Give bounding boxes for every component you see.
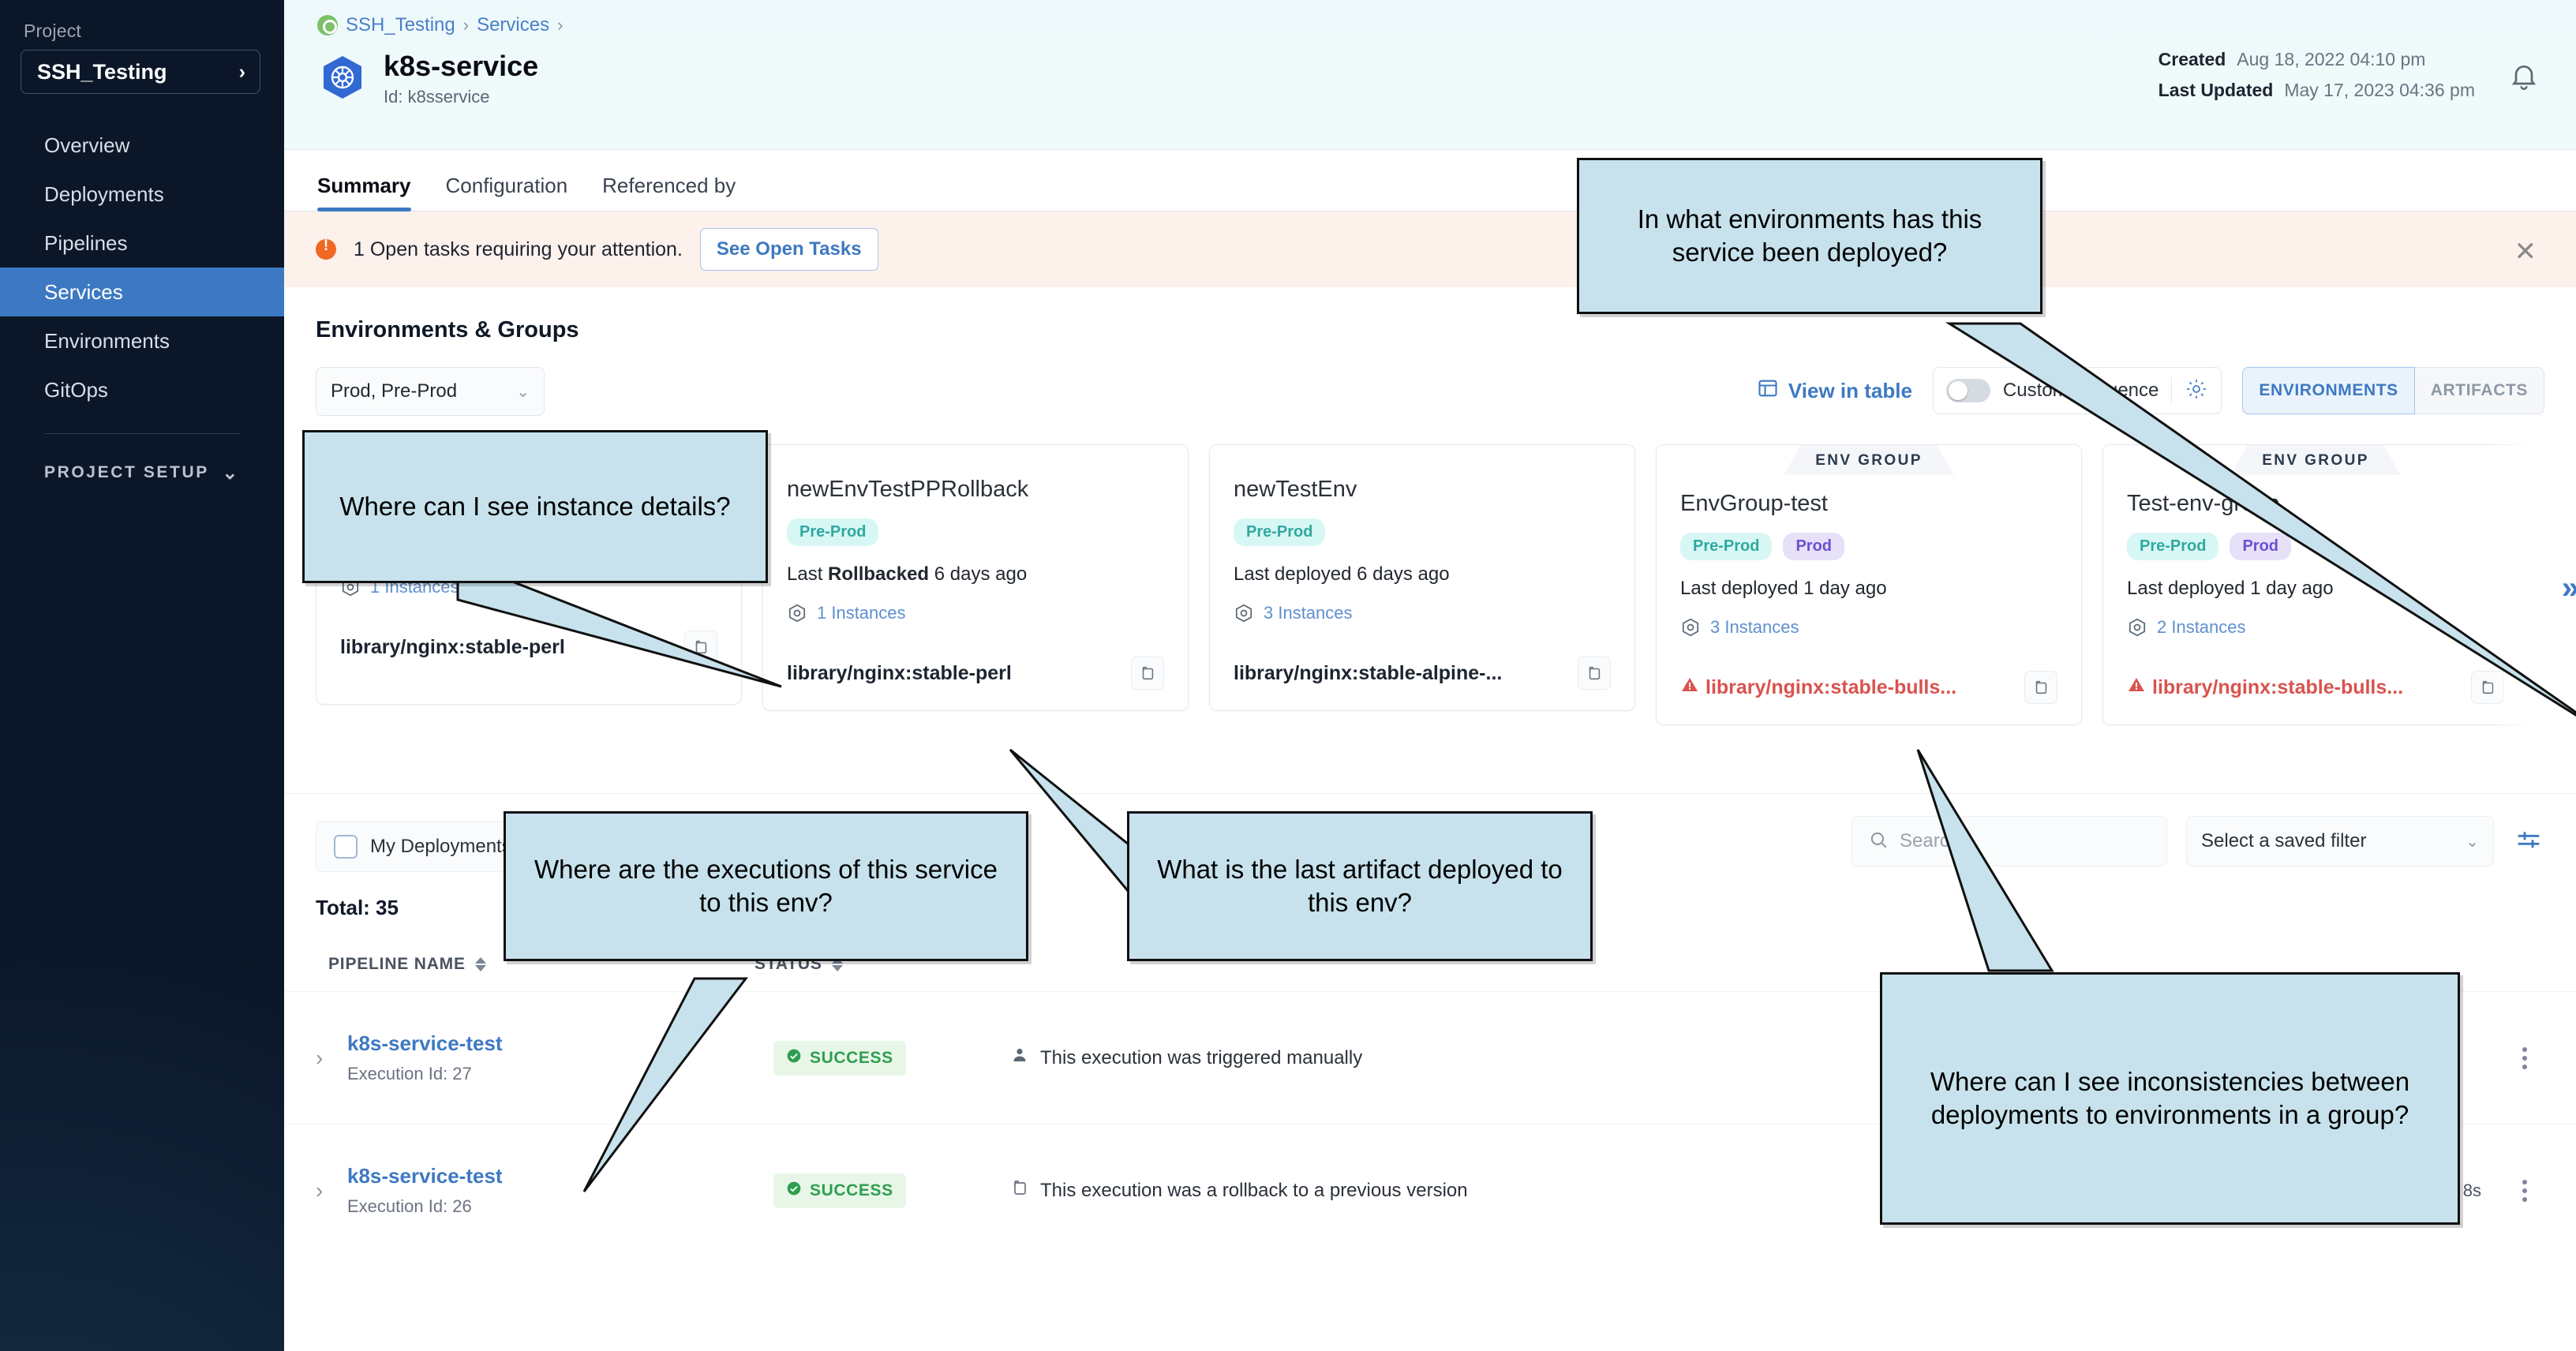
row-menu-icon[interactable] [2505,1180,2544,1202]
cell-description: This execution was a rollback to a previ… [1010,1178,1953,1203]
sidebar-item-gitops[interactable]: GitOps [0,365,284,414]
view-in-table-button[interactable]: View in table [1757,377,1912,405]
sidebar: Project SSH_Testing › Overview Deploymen… [0,0,284,1351]
sidebar-item-label: Pipelines [44,231,128,256]
artifact-row: library/nginx:stable-alpine-... [1234,657,1611,690]
page-title: k8s-service [384,51,538,82]
artifact-label: library/nginx:stable-bulls... [1705,676,1956,699]
breadcrumb-services[interactable]: Services [477,14,549,36]
created-value: Aug 18, 2022 04:10 pm [2237,49,2425,70]
sidebar-item-pipelines[interactable]: Pipelines [0,219,284,268]
breadcrumb-separator-icon: › [557,15,563,36]
page-header: SSH_Testing › Services › [284,0,2576,150]
sidebar-item-environments[interactable]: Environments [0,316,284,365]
rollback-icon [1010,1178,1029,1203]
service-id: Id: k8sservice [384,87,538,107]
person-icon [1010,1046,1029,1070]
tab-configuration[interactable]: Configuration [429,174,586,211]
environment-type-value: Prod, Pre-Prod [331,380,457,402]
chevron-down-icon: ⌄ [2466,832,2479,851]
project-selector[interactable]: SSH_Testing › [21,50,260,94]
breadcrumb-project[interactable]: SSH_Testing [346,14,455,36]
sidebar-item-label: GitOps [44,378,108,402]
carousel-next-icon[interactable]: » [2562,571,2576,606]
breadcrumb: SSH_Testing › Services › [284,14,2576,36]
description-text: This execution was a rollback to a previ… [1040,1180,1468,1202]
tab-bar: Summary Configuration Referenced by [284,150,2576,211]
see-open-tasks-button[interactable]: See Open Tasks [700,228,878,271]
artifact-name: library/nginx:stable-bulls... [1680,675,1956,700]
deployed-suffix: 6 days ago [1357,563,1449,585]
callout-tail [1926,284,2541,758]
instance-hexagon-icon [1680,617,1701,638]
warning-icon [316,239,336,260]
sidebar-item-label: Deployments [44,182,164,207]
column-label: PIPELINE NAME [328,955,466,974]
sidebar-divider [44,433,240,434]
instance-hexagon-icon [1234,603,1254,623]
callout-inconsistencies-question: Where can I see inconsistencies between … [1880,972,2460,1225]
breadcrumb-separator-icon: › [463,15,469,36]
notifications-bell-icon[interactable] [2508,60,2540,92]
env-type-chip: Pre-Prod [787,518,878,546]
sidebar-item-project-setup[interactable]: PROJECT SETUP ⌄ [0,455,284,491]
deployed-prefix: Last deployed [1680,578,1803,599]
artifact-warning-icon [1680,675,1699,700]
environment-type-select[interactable]: Prod, Pre-Prod ⌄ [316,367,545,416]
tab-label: Configuration [446,174,568,197]
sort-icon[interactable] [475,957,486,971]
project-name: SSH_Testing [37,60,167,84]
sidebar-setup-label: PROJECT SETUP [44,463,209,482]
environment-last-deployed: Last deployed 6 days ago [1234,563,1611,586]
tab-label: Summary [317,174,411,197]
my-deployments-checkbox[interactable] [334,835,358,859]
expand-row-icon[interactable]: › [316,1046,347,1071]
environment-card-name: newTestEnv [1234,477,1611,503]
last-updated-value: May 17, 2023 04:36 pm [2284,80,2475,101]
environment-card[interactable]: newTestEnv Pre-Prod Last deployed 6 days… [1209,444,1635,711]
env-type-chip: Prod [1783,533,1844,560]
project-avatar-icon [317,15,338,36]
instances-label: 3 Instances [1264,603,1353,623]
my-deployments-filter[interactable]: My Deployments [316,821,530,872]
sidebar-item-deployments[interactable]: Deployments [0,170,284,219]
deployed-prefix: Last deployed [1234,563,1357,585]
chevron-down-icon: ⌄ [222,462,240,485]
instances-link[interactable]: 3 Instances [1234,603,1611,623]
env-type-chip: Pre-Prod [1234,518,1325,546]
kubernetes-icon [317,54,368,104]
chevron-right-icon: › [239,61,245,84]
environment-chips: Pre-Prod [787,518,1164,546]
created-label: Created [2159,49,2226,70]
callout-last-artifact-question: What is the last artifact deployed to th… [1127,811,1593,961]
expand-row-icon[interactable]: › [316,1178,347,1203]
description-text: This execution was triggered manually [1040,1047,1362,1069]
environment-card-name: newEnvTestPPRollback [787,477,1164,503]
callout-instance-details-question: Where can I see instance details? [302,430,768,583]
callout-environments-question: In what environments has this service be… [1577,158,2042,314]
tab-summary[interactable]: Summary [317,174,429,211]
open-tasks-banner: 1 Open tasks requiring your attention. S… [284,211,2576,287]
copy-icon[interactable] [1131,657,1164,690]
my-deployments-label: My Deployments [370,836,511,858]
table-icon [1757,377,1779,405]
instances-label: 3 Instances [1710,617,1799,638]
tab-label: Referenced by [602,174,736,197]
tab-referenced-by[interactable]: Referenced by [585,174,753,211]
callout-executions-question: Where are the executions of this service… [504,811,1028,961]
artifact-name: library/nginx:stable-alpine-... [1234,662,1502,685]
row-menu-icon[interactable] [2505,1047,2544,1069]
close-icon[interactable]: ✕ [2514,238,2537,265]
last-updated-label: Last Updated [2159,80,2274,101]
chevron-down-icon: ⌄ [516,382,530,402]
header-metadata: Created Aug 18, 2022 04:10 pm Last Updat… [2159,49,2475,110]
filter-settings-icon[interactable] [2513,825,2544,857]
sidebar-project-label: Project [0,21,284,42]
environment-chips: Pre-Prod [1234,518,1611,546]
view-in-table-label: View in table [1788,379,1912,403]
sidebar-item-overview[interactable]: Overview [0,121,284,170]
sidebar-item-label: Environments [44,329,170,354]
sidebar-item-services[interactable]: Services [0,268,284,316]
sidebar-item-label: Services [44,280,123,305]
copy-icon[interactable] [1578,657,1611,690]
sidebar-item-label: Overview [44,133,129,158]
banner-text: 1 Open tasks requiring your attention. [354,238,683,261]
cell-description: This execution was triggered manually [1010,1046,1953,1070]
deployed-suffix: 1 day ago [1803,578,1886,599]
env-type-chip: Pre-Prod [1680,533,1772,560]
